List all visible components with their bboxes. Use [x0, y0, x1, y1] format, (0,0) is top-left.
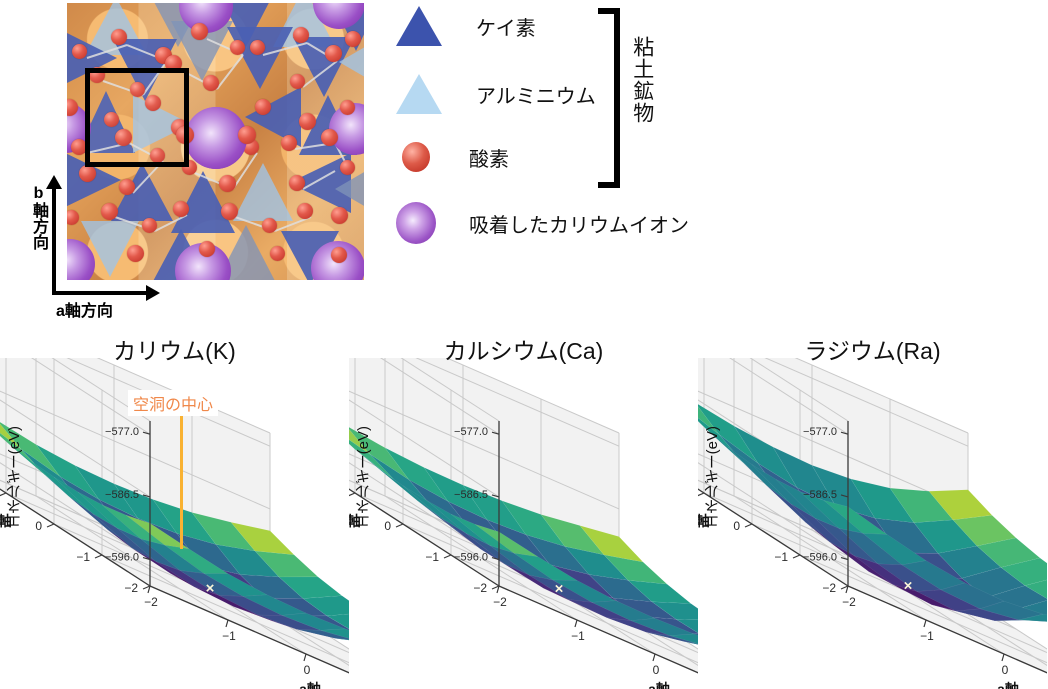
surface-plots-row: −596.0−586.5−577.0−2−1012a軸−2−1012b軸×カリウ… — [0, 330, 1048, 689]
y-tick-label: 0 — [384, 519, 391, 533]
x-tick-label: −2 — [493, 595, 507, 609]
oxygen-atom-sphere — [230, 40, 245, 55]
x-axis-title: a軸 — [648, 681, 670, 689]
sphere-oxygen-icon — [402, 142, 430, 172]
legend-item-aluminum: アルミニウム — [396, 74, 596, 114]
b-axis-arrow — [52, 187, 56, 295]
energy-axis-label-radium: エネルギー(eV) — [702, 426, 723, 529]
legend-item-oxygen: 酸素 — [402, 142, 509, 172]
oxygen-atom-sphere — [191, 23, 208, 40]
legend-label-potassium-ion: 吸着したカリウムイオン — [469, 209, 689, 238]
crystal-axis-arrows: b軸方向 a軸方向 — [30, 175, 150, 315]
oxygen-atom-sphere — [331, 207, 348, 224]
legend-panel: ケイ素 アルミニウム 酸素 吸着したカリウムイオン 粘土鉱物 — [390, 0, 1048, 330]
oxygen-atom-sphere — [67, 99, 78, 116]
x-tick-label: −2 — [842, 595, 856, 609]
unit-cell-highlight-box — [85, 68, 189, 167]
clay-mineral-bracket — [598, 8, 620, 188]
oxygen-atom-sphere — [293, 27, 309, 43]
triangle-aluminum-icon — [396, 74, 442, 114]
x-tick-label: 0 — [1002, 663, 1009, 677]
x-tick-label: −2 — [144, 595, 158, 609]
legend-label-aluminum: アルミニウム — [476, 80, 596, 109]
y-tick-label: 0 — [733, 519, 740, 533]
y-tick-label: −2 — [822, 581, 836, 595]
a-axis-direction-label: a軸方向 — [56, 297, 113, 321]
z-tick-label: −577.0 — [105, 426, 139, 438]
oxygen-atom-sphere — [173, 201, 189, 217]
oxygen-atom-sphere — [321, 129, 338, 146]
x-tick-label: 0 — [304, 663, 311, 677]
x-tick-label: −1 — [571, 629, 585, 643]
oxygen-atom-sphere — [345, 31, 361, 47]
surface-3d-canvas: −596.0−586.5−577.0−2−1012a軸−2−1012b軸× — [698, 358, 1047, 689]
oxygen-atom-sphere — [331, 247, 347, 263]
oxygen-atom-sphere — [250, 40, 265, 55]
b-axis-direction-label: b軸方向 — [26, 185, 50, 250]
energy-axis-label-calcium: エネルギー(eV) — [353, 426, 374, 529]
cavity-center-marker: × — [206, 580, 215, 597]
x-tick-label: −1 — [222, 629, 236, 643]
legend-label-oxygen: 酸素 — [469, 143, 509, 172]
z-tick-label: −596.0 — [105, 552, 139, 564]
crystal-structure-panel: b軸方向 a軸方向 — [0, 0, 390, 330]
plot-title-radium: ラジウム(Ra) — [698, 332, 1047, 366]
y-tick-label: −1 — [774, 550, 788, 564]
z-tick-label: −596.0 — [803, 552, 837, 564]
oxygen-atom-sphere — [72, 44, 87, 59]
y-tick-label: −1 — [425, 550, 439, 564]
oxygen-atom-sphere — [340, 100, 355, 115]
triangle-silicon-icon — [396, 6, 442, 46]
a-axis-arrow — [52, 291, 148, 295]
cavity-center-marker: × — [904, 578, 913, 595]
x-axis-title: a軸 — [299, 681, 321, 689]
x-tick-label: −1 — [920, 629, 934, 643]
clay-mineral-label: 粘土鉱物 — [628, 36, 656, 124]
y-tick-label: −2 — [124, 581, 138, 595]
plot-title-potassium: カリウム(K) — [0, 332, 349, 366]
z-tick-label: −586.5 — [803, 489, 837, 501]
surface-3d-canvas: −596.0−586.5−577.0−2−1012a軸−2−1012b軸× — [349, 358, 698, 689]
z-tick-label: −577.0 — [454, 426, 488, 438]
cavity-center-marker: × — [555, 580, 564, 597]
z-tick-label: −586.5 — [454, 489, 488, 501]
z-tick-label: −577.0 — [803, 426, 837, 438]
legend-item-potassium-ion: 吸着したカリウムイオン — [396, 202, 689, 244]
oxygen-atom-sphere — [199, 241, 215, 257]
oxygen-atom-sphere — [299, 113, 316, 130]
z-tick-label: −586.5 — [105, 489, 139, 501]
oxygen-atom-sphere — [325, 45, 342, 62]
y-tick-label: −2 — [473, 581, 487, 595]
sphere-potassium-icon — [396, 202, 436, 244]
oxygen-atom-sphere — [290, 74, 305, 89]
oxygen-atom-sphere — [297, 203, 313, 219]
legend-label-silicon: ケイ素 — [476, 12, 536, 41]
oxygen-atom-sphere — [262, 218, 277, 233]
oxygen-atom-sphere — [255, 99, 271, 115]
oxygen-atom-sphere — [221, 203, 238, 220]
oxygen-atom-sphere — [203, 75, 219, 91]
annotation-cavity-center: 空洞の中心 — [128, 390, 218, 416]
oxygen-atom-sphere — [281, 135, 297, 151]
surface-plot-potassium: −596.0−586.5−577.0−2−1012a軸−2−1012b軸×カリウ… — [0, 330, 349, 689]
x-axis-title: a軸 — [997, 681, 1019, 689]
y-tick-label: 0 — [35, 519, 42, 533]
oxygen-atom-sphere — [238, 126, 256, 144]
plot-title-calcium: カルシウム(Ca) — [349, 332, 698, 366]
oxygen-atom-sphere — [270, 246, 285, 261]
surface-plot-radium: −596.0−586.5−577.0−2−1012a軸−2−1012b軸×ラジウ… — [698, 330, 1047, 689]
y-tick-label: −1 — [76, 550, 90, 564]
x-tick-label: 0 — [653, 663, 660, 677]
oxygen-atom-sphere — [219, 175, 236, 192]
oxygen-atom-sphere — [111, 29, 127, 45]
energy-axis-label-potassium: エネルギー(eV) — [4, 426, 25, 529]
z-tick-label: −596.0 — [454, 552, 488, 564]
oxygen-atom-sphere — [289, 175, 305, 191]
legend-item-silicon: ケイ素 — [396, 6, 536, 46]
surface-plot-calcium: −596.0−586.5−577.0−2−1012a軸−2−1012b軸×カルシ… — [349, 330, 698, 689]
oxygen-atom-sphere — [340, 160, 355, 175]
annotation-pointer-line — [180, 414, 183, 549]
